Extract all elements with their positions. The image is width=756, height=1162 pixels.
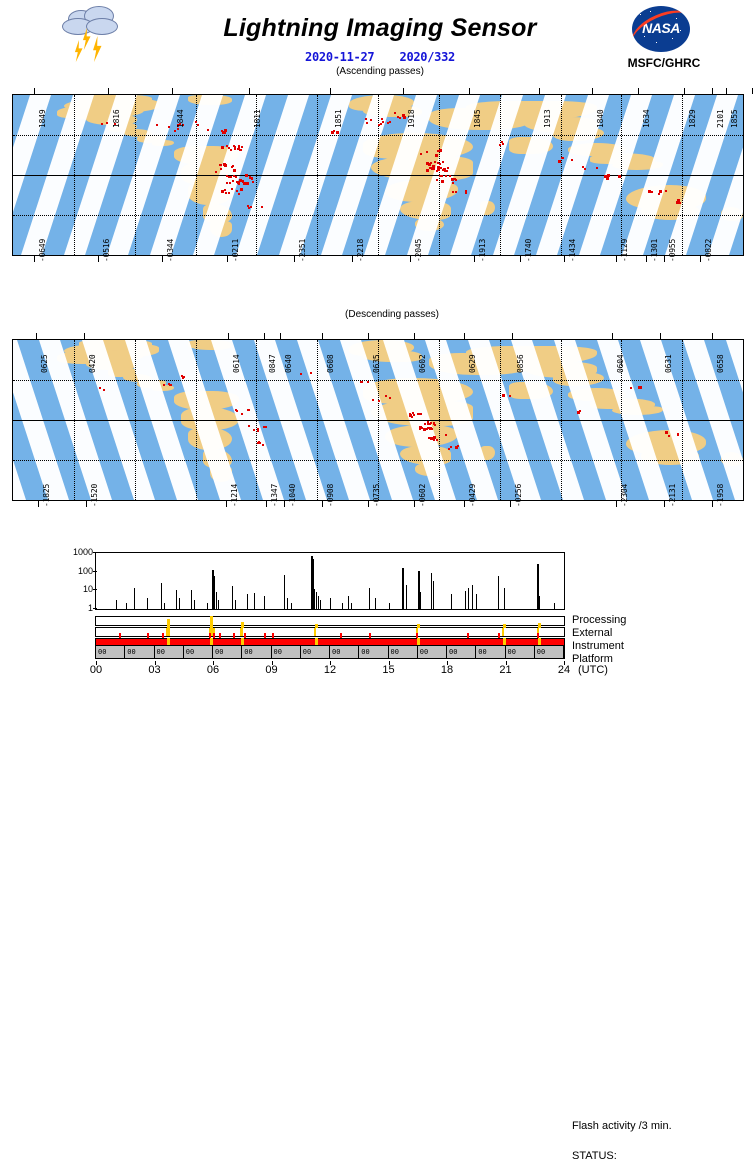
lightning-flash-marker	[607, 174, 610, 177]
status-segment	[240, 628, 243, 636]
platform-status-mark	[538, 638, 541, 645]
orbit-tick-top	[684, 88, 685, 94]
center-label: MSFC/GHRC	[614, 56, 714, 70]
lightning-flash-marker	[429, 423, 431, 425]
flash-activity-bar	[318, 596, 319, 609]
orbit-tick-bottom	[322, 501, 323, 507]
lightning-flash-marker	[262, 444, 264, 446]
flash-activity-bar	[465, 591, 466, 609]
orbit-tick-top	[330, 88, 331, 94]
longitude-gridline	[317, 340, 318, 501]
lightning-flash-marker	[452, 191, 454, 193]
lightning-flash-marker	[455, 191, 457, 193]
flash-activity-bar	[247, 594, 248, 609]
orbit-time-label-bottom: -2351	[298, 239, 307, 262]
lightning-flash-marker	[659, 190, 662, 193]
status-segment	[314, 628, 316, 636]
orbit-tick-top	[228, 333, 229, 339]
orbit-tick-top	[108, 88, 109, 94]
lightning-flash-marker	[169, 384, 171, 386]
flash-activity-bar	[314, 589, 315, 609]
longitude-gridline	[500, 95, 501, 256]
lightning-flash-marker	[229, 182, 231, 184]
orbit-time-label-bottom: -0955	[668, 239, 677, 262]
lightning-flash-marker	[163, 384, 165, 386]
lightning-flash-marker	[426, 151, 428, 153]
lightning-flash-marker	[426, 169, 429, 172]
lightning-flash-marker	[437, 168, 439, 170]
lightning-flash-marker	[596, 167, 598, 169]
flash-chart-ytick-label: 100	[78, 566, 93, 576]
orbit-tick-bottom	[712, 501, 713, 507]
lightning-flash-marker	[677, 433, 679, 435]
hour-cell: 00	[447, 646, 476, 658]
orbit-tick-bottom	[226, 501, 227, 507]
orbit-tick-top	[280, 333, 281, 339]
lightning-flash-marker	[236, 190, 238, 192]
hour-cell: 00	[359, 646, 388, 658]
orbit-time-label-bottom: -1214	[230, 484, 239, 507]
flash-activity-bar	[504, 588, 505, 609]
flash-activity-bar	[342, 603, 343, 609]
lightning-flash-marker	[228, 192, 230, 194]
lightning-flash-marker	[174, 130, 176, 132]
flash-activity-bar	[402, 568, 404, 609]
lightning-flash-marker	[448, 448, 450, 450]
lightning-flash-marker	[389, 121, 391, 123]
orbit-tick-bottom	[38, 501, 39, 507]
hour-cell: 00	[389, 646, 418, 658]
orbit-tick-top	[592, 88, 593, 94]
lightning-flash-marker	[426, 428, 428, 430]
lightning-flash-marker	[665, 431, 668, 434]
orbit-time-label-bottom: -1040	[288, 484, 297, 507]
lightning-flash-marker	[665, 190, 667, 192]
lightning-flash-marker	[240, 149, 242, 151]
orbit-tick-bottom	[284, 501, 285, 507]
orbit-tick-bottom	[294, 256, 295, 262]
hour-cell: 00	[96, 646, 125, 658]
orbit-time-label-bottom: -0256	[514, 484, 523, 507]
lightning-flash-marker	[221, 130, 223, 132]
page-header: Lightning Imaging Sensor 2020-11-27 2020…	[0, 0, 756, 78]
lightning-flash-marker	[237, 181, 240, 184]
lightning-flash-marker	[668, 435, 670, 437]
orbit-time-label-top: 1918	[407, 110, 416, 128]
lightning-flash-marker	[106, 122, 108, 124]
lightning-flash-marker	[231, 188, 233, 190]
lightning-flash-marker	[465, 192, 467, 194]
lightning-flash-marker	[394, 112, 396, 114]
orbit-time-label-top: 1855	[730, 110, 739, 128]
lightning-flash-marker	[452, 182, 454, 184]
ascending-pass-label: (Ascending passes)	[190, 66, 570, 77]
lightning-flash-marker	[251, 178, 253, 180]
day-of-year: 2020/332	[400, 50, 455, 64]
flash-chart-ytick	[93, 571, 97, 572]
status-segment	[166, 628, 170, 636]
flash-activity-bar	[216, 592, 217, 609]
lightning-flash-marker	[577, 412, 579, 414]
lightning-flash-marker	[247, 409, 249, 411]
status-label: Processing	[572, 614, 626, 626]
flash-chart-ytick-label: 10	[83, 584, 93, 594]
orbit-time-label-top: 1844	[176, 110, 185, 128]
orbit-time-label-top: 1845	[473, 110, 482, 128]
flash-chart-ytick-label: 1000	[73, 547, 93, 557]
lightning-flash-marker	[226, 182, 228, 184]
orbit-tick-top	[403, 88, 404, 94]
orbit-time-label-bottom: -0211	[231, 239, 240, 262]
lightning-flash-marker	[502, 394, 504, 396]
orbit-time-label-bottom: -0516	[102, 239, 111, 262]
flash-activity-bar	[330, 598, 331, 609]
flash-activity-bar	[218, 600, 219, 609]
hour-cell: 00	[535, 646, 564, 658]
orbit-tick-bottom	[352, 256, 353, 262]
orbit-tick-bottom	[510, 501, 511, 507]
orbit-time-label-top: 0629	[468, 355, 477, 373]
flash-activity-bar	[179, 598, 180, 609]
flash-activity-bar	[433, 581, 434, 609]
lightning-flash-marker	[372, 399, 374, 401]
lightning-flash-marker	[370, 119, 372, 121]
lightning-flash-marker	[439, 175, 441, 177]
lightning-flash-marker	[579, 410, 581, 412]
orbit-tick-top	[368, 333, 369, 339]
hour-cell: 00	[125, 646, 154, 658]
flash-activity-bar	[431, 573, 432, 609]
flash-activity-bar	[351, 603, 352, 609]
orbit-time-label-bottom: -1958	[716, 484, 725, 507]
orbit-time-label-bottom: -0344	[166, 239, 175, 262]
orbit-tick-bottom	[520, 256, 521, 262]
lightning-flash-marker	[235, 176, 237, 178]
instrument-status-tick	[244, 633, 246, 638]
orbit-time-label-top: 2101	[716, 110, 725, 128]
orbit-tick-bottom	[410, 256, 411, 262]
hour-cell: 00	[184, 646, 213, 658]
lightning-flash-marker	[177, 128, 179, 130]
lightning-flash-marker	[397, 116, 399, 118]
orbit-time-label-top: 1634	[642, 110, 651, 128]
orbit-tick-top	[172, 88, 173, 94]
flash-activity-chart	[95, 552, 565, 610]
lightning-flash-marker	[245, 174, 248, 177]
flash-activity-bar	[264, 596, 265, 609]
orbit-time-label-bottom: -0602	[418, 484, 427, 507]
instrument-status-tick	[537, 633, 539, 638]
hour-cell: 00	[330, 646, 359, 658]
lightning-flash-marker	[207, 129, 209, 131]
lightning-flash-marker	[249, 177, 251, 179]
lightning-flash-marker	[261, 206, 263, 208]
orbit-time-label-top: 0856	[516, 355, 525, 373]
platform-status-mark	[503, 638, 506, 645]
orbit-tick-top	[712, 88, 713, 94]
lightning-flash-marker	[445, 175, 447, 177]
orbit-time-label-bottom: -1520	[90, 484, 99, 507]
nasa-meatball-icon: NASA	[632, 6, 694, 54]
lightning-flash-marker	[442, 161, 444, 163]
lightning-flash-marker	[435, 154, 438, 157]
orbit-time-label-bottom: -0649	[38, 239, 47, 262]
lightning-flash-marker	[240, 188, 243, 191]
orbit-tick-top	[322, 333, 323, 339]
orbit-time-label-bottom: -0822	[704, 239, 713, 262]
lightning-flash-marker	[630, 387, 632, 389]
status-row-external	[95, 627, 565, 637]
longitude-gridline	[561, 95, 562, 256]
platform-status-mark	[417, 638, 420, 645]
flash-activity-bar	[291, 603, 292, 609]
lightning-flash-marker	[658, 193, 660, 195]
orbit-tick-bottom	[227, 256, 228, 262]
orbit-time-label-bottom: -2131	[668, 484, 677, 507]
orbit-tick-top	[84, 333, 85, 339]
lightning-flash-marker	[571, 159, 573, 161]
instrument-status-tick	[272, 633, 274, 638]
lightning-flash-marker	[436, 439, 438, 441]
orbit-time-label-top: 0625	[40, 355, 49, 373]
instrument-status-tick	[467, 633, 469, 638]
orbit-tick-bottom	[368, 501, 369, 507]
lightning-flash-marker	[433, 423, 435, 425]
ascending-passes-map: 1849181618441811185119181845191318401634…	[12, 80, 744, 270]
flash-chart-ytick	[93, 589, 97, 590]
lightning-flash-marker	[509, 395, 511, 397]
lightning-flash-marker	[413, 414, 415, 416]
hour-cell: 00	[155, 646, 184, 658]
hour-cell: 00	[476, 646, 505, 658]
lightning-flash-marker	[215, 171, 217, 173]
lightning-flash-marker	[224, 189, 226, 191]
status-label: External	[572, 627, 612, 639]
lightning-flash-marker	[421, 427, 423, 429]
hour-cell: 00	[272, 646, 301, 658]
flash-activity-bar	[287, 598, 288, 609]
lightning-flash-marker	[257, 428, 259, 430]
lightning-flash-marker	[447, 167, 449, 169]
orbit-tick-bottom	[464, 501, 465, 507]
flash-activity-bar	[194, 600, 195, 609]
lightning-flash-marker	[651, 191, 653, 193]
lightning-flash-marker	[230, 176, 232, 178]
instrument-status-tick	[162, 633, 164, 638]
lightning-flash-marker	[380, 123, 382, 125]
orbit-time-label-bottom: -2045	[414, 239, 423, 262]
orbit-tick-bottom	[474, 256, 475, 262]
activity-panel: 1000100101 Flash activity /3 min. STATUS…	[0, 548, 756, 680]
lightning-flash-marker	[336, 131, 339, 134]
ascending-map-canvas	[12, 94, 744, 256]
lightning-flash-marker	[248, 425, 250, 427]
lightning-flash-marker	[168, 126, 170, 128]
time-axis-label: 03	[145, 664, 165, 676]
longitude-gridline	[439, 340, 440, 501]
lightning-flash-marker	[310, 372, 312, 374]
lightning-flash-marker	[455, 446, 458, 449]
lightning-flash-marker	[648, 190, 651, 193]
lightning-flash-marker	[618, 175, 621, 178]
lightning-flash-marker	[389, 397, 391, 399]
longitude-gridline	[196, 340, 197, 501]
lightning-flash-marker	[226, 145, 228, 147]
lightning-flash-marker	[439, 163, 441, 165]
instrument-status-tick	[264, 633, 266, 638]
lightning-flash-marker	[445, 434, 447, 436]
hour-timebar: 00000000000000000000000000000000	[95, 645, 565, 659]
lightning-flash-marker	[219, 164, 221, 166]
orbit-time-label-top: 0635	[372, 355, 381, 373]
flash-chart-yaxis: 1000100101	[60, 552, 93, 610]
instrument-status-tick	[498, 633, 500, 638]
lightning-flash-marker	[441, 180, 444, 183]
flash-activity-bar	[232, 586, 233, 609]
flash-chart-ytick	[93, 608, 97, 609]
orbit-time-label-bottom: -1301	[650, 239, 659, 262]
orbit-time-label-top: 1811	[253, 110, 262, 128]
time-axis-label: 06	[203, 664, 223, 676]
flash-activity-bar	[176, 590, 177, 609]
orbit-time-label-top: 0604	[616, 355, 625, 373]
lightning-flash-marker	[439, 149, 442, 152]
lightning-flash-marker	[434, 161, 436, 163]
descending-passes-map: (Descending passes) 06250420061408470640…	[12, 325, 744, 515]
orbit-time-label-bottom: -1913	[478, 239, 487, 262]
orbit-time-label-top: 0658	[716, 355, 725, 373]
time-axis-label: 00	[86, 664, 106, 676]
flash-activity-bar	[235, 600, 236, 609]
orbit-tick-top	[712, 333, 713, 339]
lightning-flash-marker	[228, 176, 230, 178]
hour-cell: 00	[242, 646, 271, 658]
lightning-flash-marker	[361, 381, 363, 383]
lightning-flash-marker	[606, 177, 609, 180]
lightning-flash-marker	[403, 116, 406, 119]
lightning-flash-marker	[156, 124, 158, 126]
lightning-flash-marker	[253, 429, 255, 431]
orbit-tick-top	[414, 333, 415, 339]
longitude-gridline	[500, 340, 501, 501]
lightning-flash-marker	[246, 182, 249, 185]
hour-cell: 00	[213, 646, 242, 658]
lightning-flash-marker	[232, 180, 234, 182]
instrument-status-tick	[369, 633, 371, 638]
orbit-tick-top	[36, 333, 37, 339]
status-segment	[502, 628, 504, 636]
orbit-tick-bottom	[162, 256, 163, 262]
lightning-flash-marker	[399, 117, 401, 119]
flash-activity-legend: Flash activity /3 min.	[572, 1120, 672, 1132]
utc-label: (UTC)	[578, 664, 608, 676]
flash-activity-bar	[161, 583, 162, 609]
longitude-gridline	[256, 340, 257, 501]
orbit-time-label-bottom: -0908	[326, 484, 335, 507]
flash-chart-ytick	[93, 552, 97, 553]
flash-activity-bar	[554, 603, 555, 609]
lightning-flash-marker	[502, 143, 504, 145]
lightning-flash-marker	[429, 167, 431, 169]
longitude-gridline	[135, 340, 136, 501]
lightning-flash-marker	[250, 206, 252, 208]
orbit-time-label-bottom: -1434	[568, 239, 577, 262]
orbit-time-label-top: 1851	[334, 110, 343, 128]
lightning-flash-marker	[234, 148, 236, 150]
unobserved-swath-gap	[743, 339, 744, 501]
lightning-flash-marker	[382, 121, 384, 123]
lightning-flash-marker	[238, 147, 240, 149]
flash-activity-bar	[126, 603, 127, 609]
instrument-status-tick	[213, 633, 215, 638]
orbit-time-label-top: 0631	[664, 355, 673, 373]
lightning-flash-marker	[182, 377, 184, 379]
orbit-time-label-top: 1913	[543, 110, 552, 128]
platform-status-mark	[210, 638, 213, 645]
lightning-flash-marker	[367, 381, 369, 383]
lightning-flash-marker	[225, 192, 227, 194]
status-label: Instrument	[572, 640, 624, 652]
orbit-tick-top	[264, 333, 265, 339]
flash-activity-bar	[375, 598, 376, 609]
orbit-tick-bottom	[646, 256, 647, 262]
orbit-tick-top	[660, 333, 661, 339]
instrument-status-tick	[233, 633, 235, 638]
lightning-flash-marker	[385, 395, 387, 397]
lightning-flash-marker	[562, 157, 564, 159]
lightning-flash-marker	[224, 129, 227, 132]
lightning-flash-marker	[420, 413, 422, 415]
time-axis-label: 09	[262, 664, 282, 676]
flash-activity-bar	[214, 576, 215, 609]
orbit-time-label-top: 1816	[112, 110, 121, 128]
lightning-flash-marker	[233, 169, 236, 172]
orbit-tick-top	[752, 88, 753, 94]
instrument-status-tick	[147, 633, 149, 638]
orbit-time-label-bottom: -2218	[356, 239, 365, 262]
orbit-time-label-bottom: -1825	[42, 484, 51, 507]
orbit-tick-bottom	[664, 501, 665, 507]
orbit-tick-top	[612, 333, 613, 339]
orbit-time-label-top: 0608	[326, 355, 335, 373]
orbit-tick-bottom	[98, 256, 99, 262]
flash-activity-bar	[539, 596, 540, 609]
orbit-time-label-bottom: -1740	[524, 239, 533, 262]
observation-date: 2020-11-27	[305, 50, 374, 64]
flash-activity-bar	[476, 594, 477, 609]
orbit-tick-bottom	[86, 501, 87, 507]
lightning-flash-marker	[242, 181, 244, 183]
lightning-flash-marker	[378, 400, 380, 402]
lightning-flash-marker	[584, 168, 586, 170]
lightning-flash-marker	[252, 181, 254, 183]
flash-activity-bar	[147, 598, 148, 609]
lightning-flash-marker	[679, 202, 681, 204]
time-axis-label: 24	[554, 664, 574, 676]
status-legend-title: STATUS:	[572, 1150, 617, 1162]
hour-cell: 00	[418, 646, 447, 658]
longitude-gridline	[682, 340, 683, 501]
lightning-flash-marker	[420, 153, 422, 155]
descending-pass-label: (Descending passes)	[202, 309, 582, 320]
lightning-flash-marker	[431, 428, 433, 430]
external-status-spike	[538, 623, 541, 628]
flash-activity-bar	[254, 593, 255, 609]
lightning-flash-marker	[263, 426, 265, 428]
lightning-flash-marker	[231, 166, 233, 168]
lightning-flash-marker	[331, 131, 334, 134]
flash-activity-bar	[164, 603, 165, 609]
